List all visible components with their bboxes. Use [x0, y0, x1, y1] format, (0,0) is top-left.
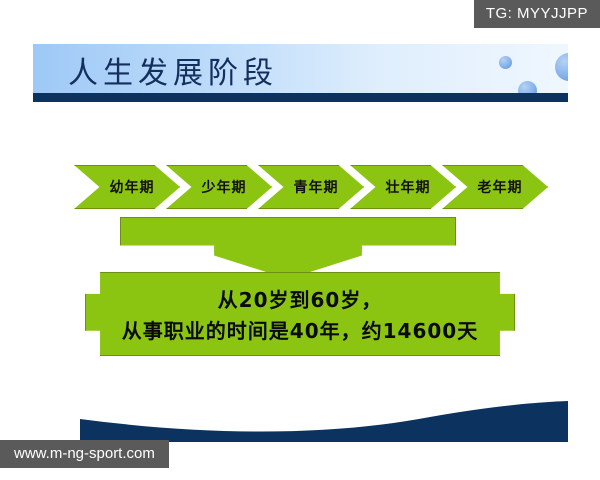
page-title: 人生发展阶段 [68, 48, 278, 92]
stage-chevron-3[interactable]: 青年期 [258, 165, 364, 209]
stage-chevron-4[interactable]: 壮年期 [350, 165, 456, 209]
bubble-small-icon [499, 56, 512, 69]
stage-chevron-row: 幼年期 少年期 青年期 壮年期 老年期 [74, 165, 534, 209]
stage-chevron-5[interactable]: 老年期 [442, 165, 548, 209]
corner-tag-label: TG: MYYJJPP [474, 0, 600, 28]
watermark-label: www.m-ng-sport.com [0, 440, 169, 468]
bubble-large-icon [555, 53, 568, 81]
summary-callout: 从20岁到60岁， 从事职业的时间是40年，约14600天 [85, 272, 515, 356]
down-arrow-shape [120, 217, 456, 279]
footer-wave-decoration [0, 392, 568, 442]
slide-canvas: 人生发展阶段 幼年期 少年期 青年期 壮年期 老年期 从20岁到60岁， 从事职… [0, 0, 600, 480]
header-underline-rule [33, 93, 568, 102]
callout-line-1: 从20岁到60岁， [218, 284, 383, 313]
stage-chevron-1[interactable]: 幼年期 [74, 165, 180, 209]
callout-line-2: 从事职业的时间是40年，约14600天 [122, 315, 478, 344]
stage-chevron-2[interactable]: 少年期 [166, 165, 272, 209]
